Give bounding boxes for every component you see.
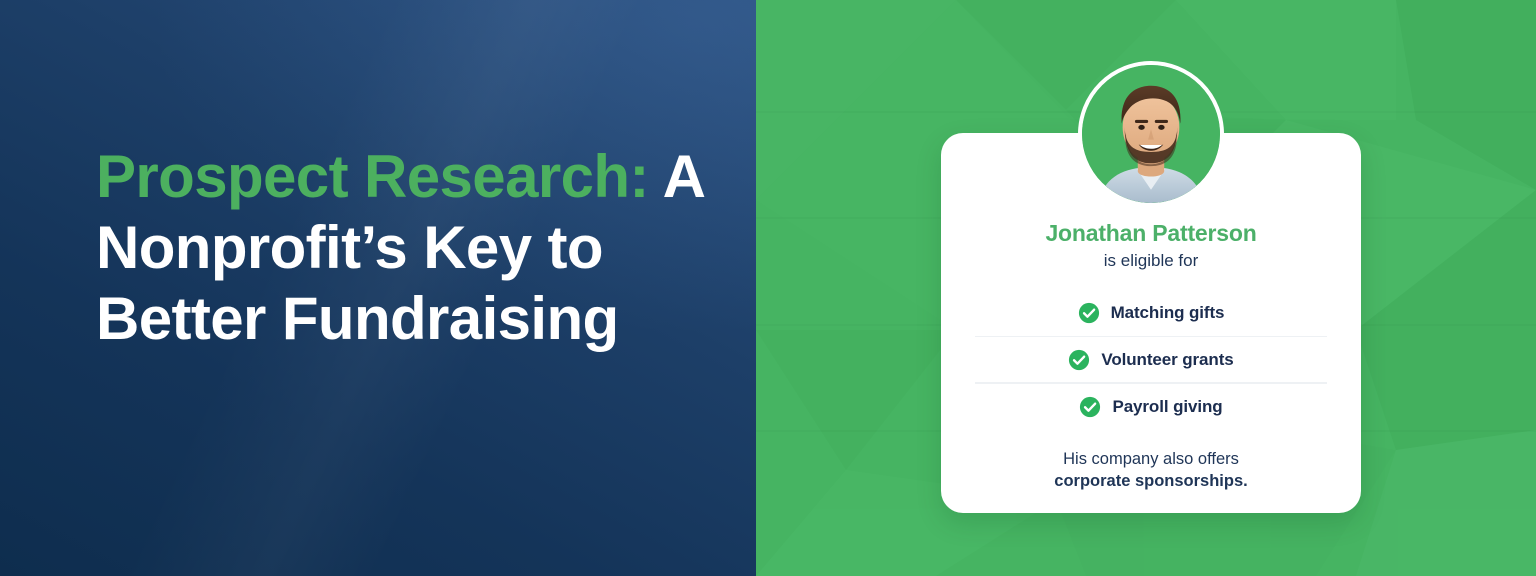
eligible-label: is eligible for <box>975 250 1327 272</box>
list-item: Volunteer grants <box>975 336 1327 383</box>
footnote: His company also offers corporate sponso… <box>975 448 1327 492</box>
check-circle-icon <box>1078 302 1100 324</box>
benefit-label: Volunteer grants <box>1101 350 1233 370</box>
benefits-list: Matching gifts Volunteer grants <box>975 289 1327 430</box>
person-name: Jonathan Patterson <box>975 219 1327 247</box>
donor-eligibility-card: Jonathan Patterson is eligible for Match… <box>941 133 1361 513</box>
left-navy-panel: Prospect Research: A Nonprofit’s Key to … <box>0 0 756 576</box>
benefit-label: Matching gifts <box>1111 303 1225 323</box>
card-content: Jonathan Patterson is eligible for Match… <box>941 219 1361 492</box>
user-photo-icon <box>1082 65 1220 203</box>
hero-banner: Prospect Research: A Nonprofit’s Key to … <box>0 0 1536 576</box>
right-green-panel: Jonathan Patterson is eligible for Match… <box>756 0 1536 576</box>
check-circle-icon <box>1079 396 1101 418</box>
avatar <box>1078 61 1224 207</box>
list-item: Matching gifts <box>975 289 1327 336</box>
footnote-line-2: corporate sponsorships. <box>975 470 1327 492</box>
list-item: Payroll giving <box>975 383 1327 430</box>
benefit-label: Payroll giving <box>1112 397 1222 417</box>
headline-accent: Prospect Research: <box>96 143 649 210</box>
check-circle-icon <box>1068 349 1090 371</box>
footnote-line-1: His company also offers <box>1063 450 1239 468</box>
page-title: Prospect Research: A Nonprofit’s Key to … <box>96 141 736 354</box>
